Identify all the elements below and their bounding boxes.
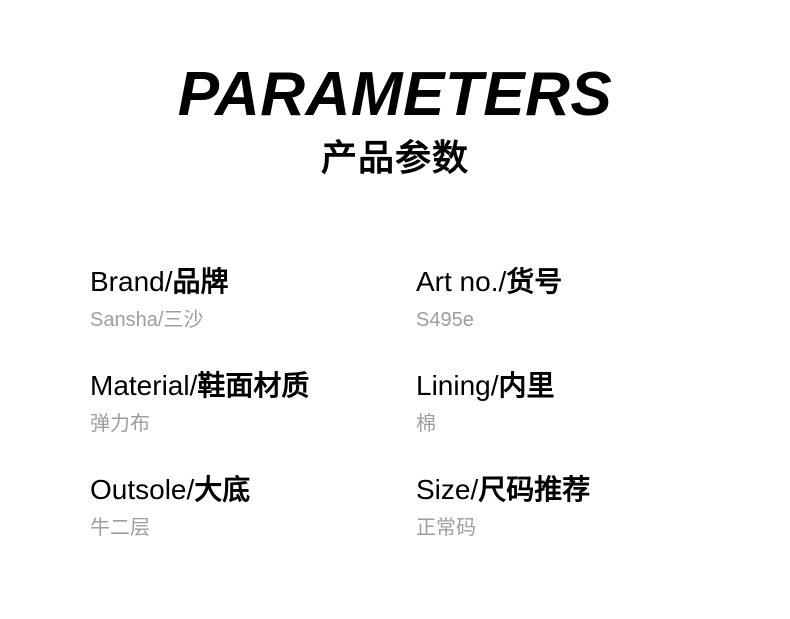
page-subtitle: 产品参数 bbox=[0, 137, 790, 178]
spec-label-material-latin: Material/ bbox=[90, 370, 197, 401]
spec-label-size: Size/尺码推荐 bbox=[416, 472, 790, 508]
spec-label-size-latin: Size/ bbox=[416, 474, 478, 505]
spec-value-lining: 棉 bbox=[416, 411, 790, 437]
spec-item-brand: Brand/品牌 Sansha/三沙 bbox=[0, 264, 408, 368]
spec-label-outsole: Outsole/大底 bbox=[90, 472, 408, 508]
spec-label-art-no: Art no./货号 bbox=[416, 264, 790, 300]
spec-label-lining-latin: Lining/ bbox=[416, 370, 499, 401]
spec-label-brand: Brand/品牌 bbox=[90, 264, 408, 300]
spec-item-art-no: Art no./货号 S495e bbox=[408, 264, 790, 368]
spec-item-material: Material/鞋面材质 弹力布 bbox=[0, 368, 408, 472]
spec-label-art-no-cjk: 货号 bbox=[506, 266, 562, 297]
spec-value-brand: Sansha/三沙 bbox=[90, 307, 408, 333]
spec-value-outsole: 牛二层 bbox=[90, 515, 408, 541]
spec-label-outsole-cjk: 大底 bbox=[194, 474, 250, 505]
spec-item-outsole: Outsole/大底 牛二层 bbox=[0, 472, 408, 541]
spec-label-brand-latin: Brand/ bbox=[90, 266, 173, 297]
spec-label-lining: Lining/内里 bbox=[416, 368, 790, 404]
spec-label-outsole-latin: Outsole/ bbox=[90, 474, 194, 505]
spec-value-material: 弹力布 bbox=[90, 411, 408, 437]
product-parameters-page: PARAMETERS 产品参数 Brand/品牌 Sansha/三沙 Art n… bbox=[0, 0, 790, 619]
spec-item-size: Size/尺码推荐 正常码 bbox=[408, 472, 790, 541]
spec-label-material: Material/鞋面材质 bbox=[90, 368, 408, 404]
page-title: PARAMETERS bbox=[0, 62, 790, 129]
spec-value-size: 正常码 bbox=[416, 515, 790, 541]
spec-label-lining-cjk: 内里 bbox=[499, 370, 555, 401]
spec-label-size-cjk: 尺码推荐 bbox=[478, 474, 590, 505]
page-header: PARAMETERS 产品参数 bbox=[0, 62, 790, 178]
spec-label-brand-cjk: 品牌 bbox=[173, 266, 229, 297]
spec-item-lining: Lining/内里 棉 bbox=[408, 368, 790, 472]
spec-label-material-cjk: 鞋面材质 bbox=[197, 370, 309, 401]
spec-value-art-no: S495e bbox=[416, 307, 790, 333]
specification-grid: Brand/品牌 Sansha/三沙 Art no./货号 S495e Mate… bbox=[0, 264, 790, 541]
spec-label-art-no-latin: Art no./ bbox=[416, 266, 506, 297]
